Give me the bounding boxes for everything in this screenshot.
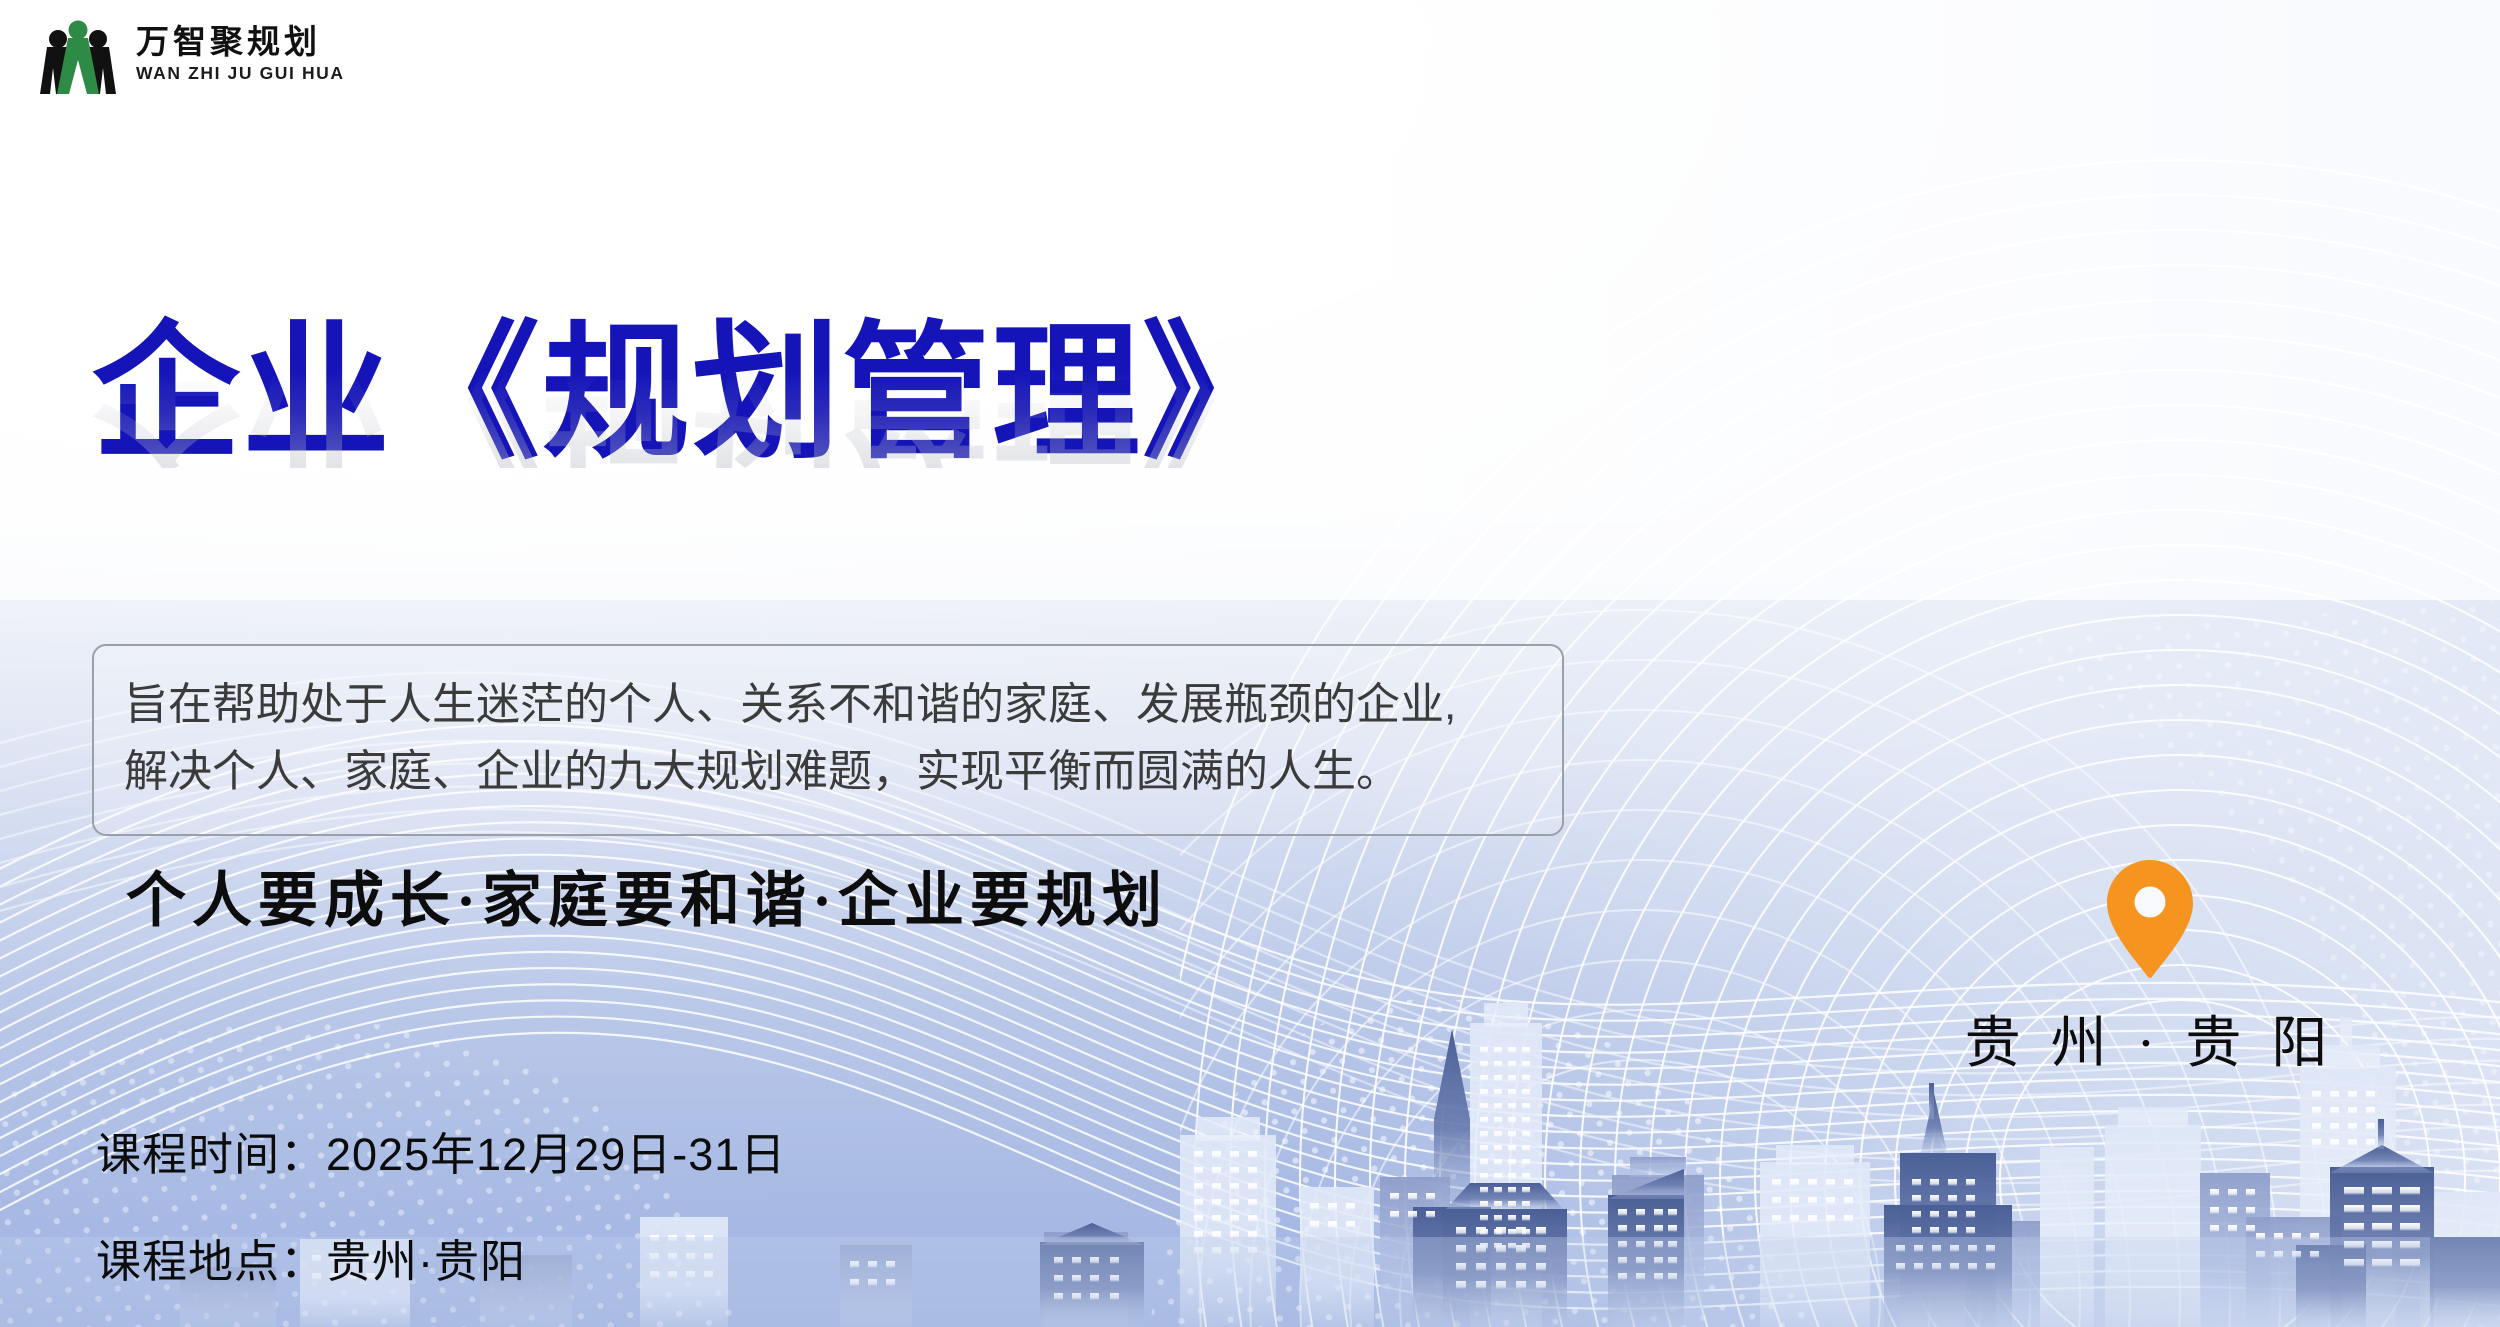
brand-name-en: WAN ZHI JU GUI HUA (136, 65, 345, 83)
course-time: 课程时间：2025年12月29日-31日 (96, 1118, 786, 1183)
map-pin-icon (2105, 858, 2195, 980)
page-title-reflection: 企业《规划管理》 (92, 330, 1292, 468)
three-people-logo-icon (36, 16, 120, 94)
hero-slogan: 个人要成长·家庭要和谐·企业要规划 (126, 852, 1168, 939)
brand-name-cn: 万智聚规划 (136, 27, 345, 60)
course-description-line-1: 旨在帮助处于人生迷茫的个人、关系不和谐的家庭、发展瓶颈的企业, (124, 672, 1532, 739)
course-description-line-2: 解决个人、家庭、企业的九大规划难题，实现平衡而圆满的人生。 (124, 739, 1532, 806)
course-place: 课程地点：贵州·贵阳 (96, 1225, 786, 1290)
course-info-block: 课程时间：2025年12月29日-31日 课程地点：贵州·贵阳 (96, 1118, 786, 1290)
location-label: 贵 州 · 贵 阳 (1950, 998, 2350, 1079)
promo-poster: 万智聚规划 WAN ZHI JU GUI HUA 企业《规划管理》 企业《规划管… (0, 0, 2500, 1327)
hero-title-block: 企业《规划管理》 企业《规划管理》 (92, 320, 1292, 606)
location-block: 贵 州 · 贵 阳 (1950, 858, 2350, 1079)
brand-wordmark: 万智聚规划 WAN ZHI JU GUI HUA (136, 27, 345, 83)
course-description-box: 旨在帮助处于人生迷茫的个人、关系不和谐的家庭、发展瓶颈的企业, 解决个人、家庭、… (92, 644, 1564, 836)
brand-logo[interactable]: 万智聚规划 WAN ZHI JU GUI HUA (36, 16, 345, 94)
